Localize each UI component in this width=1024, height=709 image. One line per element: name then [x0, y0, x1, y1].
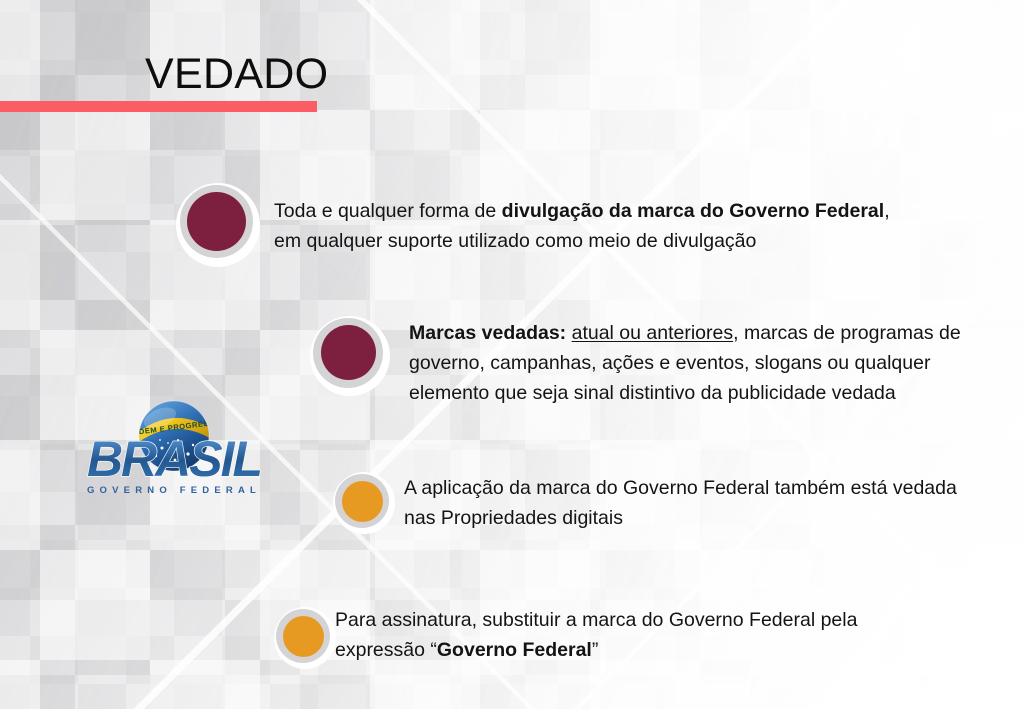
bullet-marker-orange-3	[342, 481, 383, 522]
title-accent-rule	[0, 101, 317, 112]
brasil-wordmark: BRASIL	[87, 431, 261, 487]
bullet-text-1: Toda e qualquer forma de divulgação da m…	[274, 196, 904, 256]
slide-canvas: VEDADO	[0, 0, 1024, 709]
svg-text:GOVERNO FEDERAL: GOVERNO FEDERAL	[87, 485, 261, 496]
page-title: VEDADO	[145, 52, 328, 98]
bullet-marker-orange-4	[283, 616, 324, 657]
bullet-marker-maroon-2	[321, 325, 376, 380]
svg-text:BRASIL: BRASIL	[87, 431, 261, 487]
brasil-governo-federal-logo: ORDEM E PROGRESSO BRASIL GOVERNO FEDERAL	[50, 396, 298, 500]
governo-federal-subtitle: GOVERNO FEDERAL	[87, 485, 261, 496]
bullet-text-4: Para assinatura, substituir a marca do G…	[335, 605, 895, 665]
bullet-text-2: Marcas vedadas: atual ou anteriores, mar…	[409, 318, 1009, 408]
bullet-marker-maroon-1	[187, 192, 246, 251]
bullet-text-3: A aplicação da marca do Governo Federal …	[404, 473, 964, 533]
